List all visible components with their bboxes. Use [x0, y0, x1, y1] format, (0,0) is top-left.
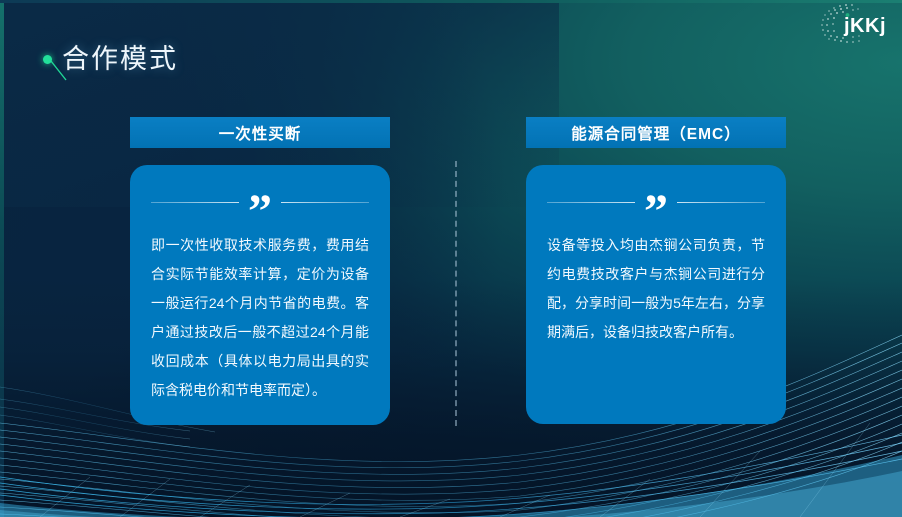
slide-canvas: jKKj 合作模式 — [0, 0, 902, 517]
card-text-one-time-buyout: 即一次性收取技术服务费，费用结合实际节能效率计算，定价为设备一般运行24个月内节… — [151, 231, 369, 405]
quote-divider-row: ” — [547, 182, 765, 222]
quote-rule-right — [281, 202, 369, 203]
page-title: 合作模式 — [62, 42, 178, 76]
title-bullet-dot — [43, 55, 52, 64]
quote-rule-left — [151, 202, 239, 203]
card-energy-management-contract: 能源合同管理（EMC） ” 设备等投入均由杰锏公司负责，节约电费技改客户与杰锏公… — [526, 117, 786, 424]
page-title-block: 合作模式 — [40, 42, 340, 88]
quote-divider-row: ” — [151, 182, 369, 222]
column-divider — [455, 161, 457, 426]
card-one-time-buyout: 一次性买断 ” 即一次性收取技术服务费，费用结合实际节能效率计算，定价为设备一般… — [130, 117, 390, 425]
card-header-energy-management-contract[interactable]: 能源合同管理（EMC） — [526, 117, 786, 148]
card-body-energy-management-contract: ” 设备等投入均由杰锏公司负责，节约电费技改客户与杰锏公司进行分配，分享时间一般… — [526, 165, 786, 424]
quote-rule-left — [547, 202, 635, 203]
card-body-one-time-buyout: ” 即一次性收取技术服务费，费用结合实际节能效率计算，定价为设备一般运行24个月… — [130, 165, 390, 425]
svg-text:jKKj: jKKj — [843, 15, 886, 37]
quote-rule-right — [677, 202, 765, 203]
card-header-one-time-buyout[interactable]: 一次性买断 — [130, 117, 390, 148]
card-text-energy-management-contract: 设备等投入均由杰锏公司负责，节约电费技改客户与杰锏公司进行分配，分享时间一般为5… — [547, 231, 765, 347]
jkkj-logo: jKKj — [814, 2, 892, 48]
top-edge-accent-strip — [0, 0, 902, 3]
